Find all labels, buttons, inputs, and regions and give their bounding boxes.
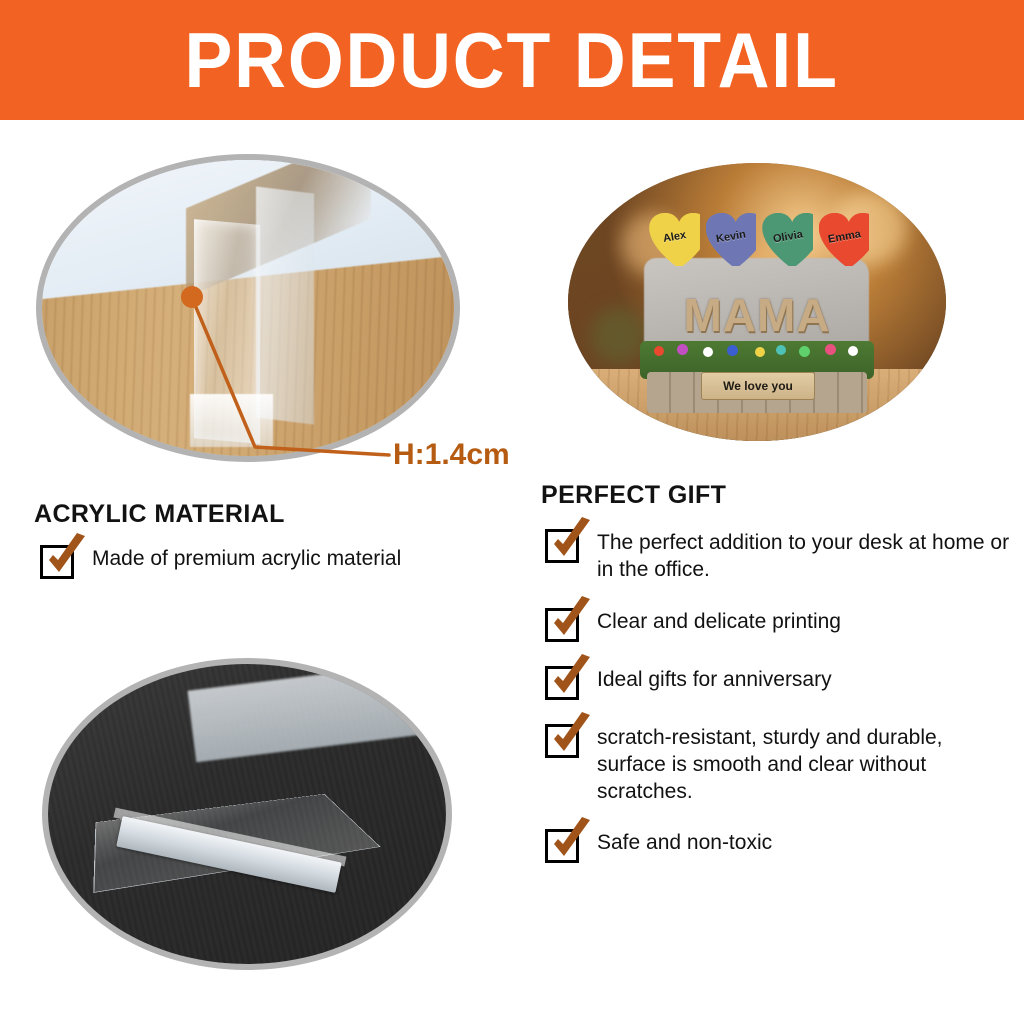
checkmark-icon — [546, 653, 596, 703]
feature-item: Made of premium acrylic material — [40, 543, 510, 579]
flower-icon — [776, 345, 786, 355]
feature-item: scratch-resistant, sturdy and durable, s… — [545, 722, 1015, 806]
flower-icon — [799, 346, 810, 357]
feature-item: The perfect addition to your desk at hom… — [545, 527, 1015, 584]
checkbox-icon[interactable] — [545, 666, 579, 700]
mama-plaque: Alex Kevin Olivia Emma MAMA — [640, 224, 874, 413]
checkbox-icon[interactable] — [545, 829, 579, 863]
checkbox-icon[interactable] — [40, 545, 74, 579]
acrylic-block — [100, 724, 395, 916]
name-heart-alex: Alex — [649, 213, 700, 266]
mama-plaque-photo: Alex Kevin Olivia Emma MAMA — [568, 163, 946, 441]
name-hearts-row: Alex Kevin Olivia Emma — [649, 213, 869, 277]
name-heart-kevin: Kevin — [706, 213, 757, 266]
page-header-banner: PRODUCT DETAIL — [0, 0, 1024, 120]
checkmark-icon — [546, 816, 596, 866]
checkbox-icon[interactable] — [545, 529, 579, 563]
flower-icon — [848, 346, 858, 356]
section-heading-perfect-gift: PERFECT GIFT — [541, 481, 726, 510]
flower-icon — [755, 347, 765, 357]
feature-text: Safe and non-toxic — [597, 827, 772, 857]
checkmark-icon — [546, 516, 596, 566]
feature-text: scratch-resistant, sturdy and durable, s… — [597, 722, 1015, 806]
acrylic-side-face — [256, 186, 314, 424]
feature-text: Ideal gifts for anniversary — [597, 664, 832, 694]
plaque-message-sign: We love you — [701, 372, 815, 400]
checkbox-icon[interactable] — [545, 608, 579, 642]
height-callout-label: H:1.4cm — [393, 438, 510, 472]
flower-icon — [654, 346, 664, 356]
acrylic-block-photo — [42, 658, 452, 970]
checkmark-icon — [546, 711, 596, 761]
bokeh-light-4 — [591, 308, 647, 364]
edge-photo-scene — [42, 160, 454, 456]
feature-item: Ideal gifts for anniversary — [545, 664, 1015, 700]
acrylic-base-edge — [190, 394, 272, 447]
flower-icon — [703, 347, 713, 357]
checkmark-icon — [546, 595, 596, 645]
flower-icon — [825, 344, 836, 355]
feature-text: Made of premium acrylic material — [92, 543, 401, 573]
section-heading-acrylic-material: ACRYLIC MATERIAL — [34, 500, 285, 529]
checkbox-icon[interactable] — [545, 724, 579, 758]
feature-text: The perfect addition to your desk at hom… — [597, 527, 1015, 584]
feature-item: Safe and non-toxic — [545, 827, 1015, 863]
feature-item: Clear and delicate printing — [545, 606, 1015, 642]
flower-icon — [677, 344, 688, 355]
name-heart-olivia: Olivia — [762, 213, 813, 266]
measurement-dot-icon — [181, 286, 203, 308]
product-photo-scene: Alex Kevin Olivia Emma MAMA — [568, 163, 946, 441]
feature-text: Clear and delicate printing — [597, 606, 841, 636]
acrylic-edge-photo — [36, 154, 460, 462]
checkmark-icon — [41, 532, 91, 582]
feature-list-acrylic-material: Made of premium acrylic material — [40, 543, 510, 601]
name-heart-emma: Emma — [819, 213, 870, 266]
flower-icon — [727, 345, 738, 356]
block-photo-scene — [48, 664, 446, 964]
feature-list-perfect-gift: The perfect addition to your desk at hom… — [545, 527, 1015, 885]
page-title: PRODUCT DETAIL — [185, 21, 839, 99]
